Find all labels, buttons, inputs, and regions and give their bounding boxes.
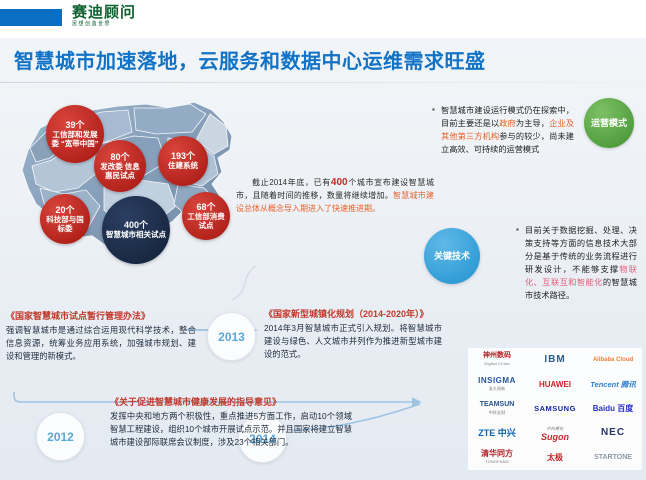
logo-teamsun-sub: 中科金财 bbox=[480, 409, 515, 417]
logo-digital-china-name: 神州数码 bbox=[483, 352, 511, 359]
policy-doc-2013: 《国家智慧城市试点暂行管理办法》 强调智慧城市是通过综合运用现代科学技术，整合信… bbox=[6, 310, 196, 363]
map-bubble-39-label: 工信部和发展委 “宽带中国” bbox=[46, 130, 104, 148]
map-bubble-39-number: 39个 bbox=[65, 121, 84, 130]
map-bubble-400-number: 400个 bbox=[124, 221, 148, 230]
page-title: 智慧城市加速落地，云服务和数据中心运维需求旺盛 bbox=[14, 46, 634, 78]
tag-operating-model[interactable]: 运营模式 bbox=[584, 98, 634, 148]
logo-taiji[interactable]: 太极 bbox=[547, 454, 563, 462]
map-bubble-68-number: 68个 bbox=[196, 203, 215, 212]
logo-huawei[interactable]: HUAWEI bbox=[539, 381, 571, 389]
logo-baidu[interactable]: Baidu 百度 bbox=[593, 405, 633, 413]
logo-insigma-name: INSIGMA bbox=[478, 376, 516, 385]
map-bubble-400-label: 智慧城市相关试点 bbox=[103, 230, 169, 239]
map-bubble-80-label: 发改委 信息惠民试点 bbox=[94, 162, 146, 180]
map-bubble-193[interactable]: 193个 住建系统 bbox=[158, 136, 208, 186]
logo-sugon-name: Sugon bbox=[541, 432, 569, 442]
policy-doc-guidance: 《关于促进智慧城市健康发展的指导意见》 发挥中央和地方两个积极性，重点推进5方面… bbox=[110, 396, 352, 449]
map-bubble-39[interactable]: 39个 工信部和发展委 “宽带中国” bbox=[46, 105, 104, 163]
logo-startone[interactable]: STARTONE bbox=[594, 454, 632, 462]
map-bubble-68-label: 工信部消费试点 bbox=[182, 212, 230, 230]
map-bubble-20-number: 20个 bbox=[55, 206, 74, 215]
logo-tongfang-sub: TONGFANG bbox=[481, 458, 513, 466]
logo-sugon[interactable]: 中科曙光 Sugon bbox=[541, 425, 569, 441]
brand-name-cn: 赛迪顾问 bbox=[72, 5, 136, 21]
logo-insigma[interactable]: INSIGMA 浙大网新 bbox=[478, 377, 516, 393]
map-bubble-20-label: 科技部与国标委 bbox=[40, 215, 90, 233]
bullet-2-highlight-2: 和智能化 bbox=[568, 278, 603, 287]
logo-digital-china[interactable]: 神州数码 Digital China bbox=[483, 352, 511, 368]
tag-key-technology[interactable]: 关键技术 bbox=[424, 228, 480, 284]
bullet-operating-model: 智慧城市建设运行模式仍在探索中，目前主要还是以政府为主导，企业及其他第三方机构参… bbox=[441, 104, 574, 156]
policy-doc-urbanization-body: 2014年3月智慧城市正式引入规划。将智慧城市建设与绿色、人文城市并列作为推进新… bbox=[264, 322, 442, 361]
year-circle-2012[interactable]: 2012 bbox=[36, 412, 85, 461]
logo-zte[interactable]: ZTE 中兴 bbox=[478, 429, 516, 437]
header-blue-bar bbox=[0, 9, 62, 26]
map-bubble-80[interactable]: 80个 发改委 信息惠民试点 bbox=[94, 140, 146, 192]
logo-tencent[interactable]: Tencent 腾讯 bbox=[590, 381, 636, 389]
policy-doc-2013-title: 《国家智慧城市试点暂行管理办法》 bbox=[6, 310, 196, 323]
policy-doc-2013-body: 强调智慧城市是通过综合运用现代科学技术，整合信息资源，统筹业务应用系统，加强城市… bbox=[6, 324, 196, 363]
map-bubble-400[interactable]: 400个 智慧城市相关试点 bbox=[102, 196, 170, 264]
summary-highlight-number: 400 bbox=[331, 177, 348, 188]
brand-logo: 赛迪顾问 思想创造世界 bbox=[72, 5, 136, 28]
logo-tongfang-name: 清华同方 bbox=[481, 449, 513, 458]
map-bubble-193-label: 住建系统 bbox=[165, 161, 201, 170]
bullet-1-highlight-1: 政府 bbox=[499, 119, 516, 128]
china-map-panel: 39个 工信部和发展委 “宽带中国” 80个 发改委 信息惠民试点 193个 住… bbox=[6, 88, 256, 273]
logo-digital-china-sub: Digital China bbox=[483, 360, 511, 368]
logo-ibm[interactable]: IBM bbox=[544, 356, 565, 364]
policy-doc-guidance-body: 发挥中央和地方两个积极性，重点推进5方面工作，启动10个领域智慧工程建设，组织1… bbox=[110, 410, 352, 449]
logo-teamsun[interactable]: TEAMSUN 中科金财 bbox=[480, 401, 515, 417]
logo-teamsun-name: TEAMSUN bbox=[480, 401, 515, 408]
brand-tagline: 思想创造世界 bbox=[72, 21, 136, 29]
map-bubble-193-number: 193个 bbox=[171, 152, 195, 161]
map-bubble-68[interactable]: 68个 工信部消费试点 bbox=[182, 192, 230, 240]
logo-alibaba-cloud[interactable]: Alibaba Cloud bbox=[593, 356, 633, 364]
policy-doc-urbanization-title: 《国家新型城镇化规划（2014-2020年）》 bbox=[264, 308, 442, 321]
slide-canvas: 赛迪顾问 思想创造世界 智慧城市加速落地，云服务和数据中心运维需求旺盛 bbox=[0, 0, 646, 480]
year-circle-2013[interactable]: 2013 bbox=[207, 312, 256, 361]
summary-paragraph: 截止2014年底，已有400个城市宣布建设智慧城市，且随着时间的推移，数量将继续… bbox=[236, 176, 434, 215]
map-bubble-20[interactable]: 20个 科技部与国标委 bbox=[40, 194, 90, 244]
title-divider bbox=[0, 82, 646, 83]
bullet-key-technology: 目前关于数据挖掘、处理、决策支持等方面的信息技术大部分是基于传统的业务流程进行研… bbox=[525, 224, 637, 302]
logo-samsung[interactable]: SAMSUNG bbox=[534, 405, 576, 413]
policy-doc-urbanization: 《国家新型城镇化规划（2014-2020年）》 2014年3月智慧城市正式引入规… bbox=[264, 308, 442, 361]
bullet-1-seg-2: 为主导， bbox=[516, 119, 549, 128]
logo-nec[interactable]: NEC bbox=[601, 429, 625, 437]
policy-doc-guidance-title: 《关于促进智慧城市健康发展的指导意见》 bbox=[110, 396, 352, 409]
map-bubble-80-number: 80个 bbox=[110, 153, 129, 162]
summary-part-1: 截止2014年底，已有 bbox=[252, 178, 331, 187]
logo-insigma-sub: 浙大网新 bbox=[478, 385, 516, 393]
vendor-logo-grid: 神州数码 Digital China IBM Alibaba Cloud INS… bbox=[468, 348, 642, 470]
slide-header: 赛迪顾问 思想创造世界 bbox=[0, 0, 646, 38]
logo-tongfang[interactable]: 清华同方 TONGFANG bbox=[481, 450, 513, 466]
